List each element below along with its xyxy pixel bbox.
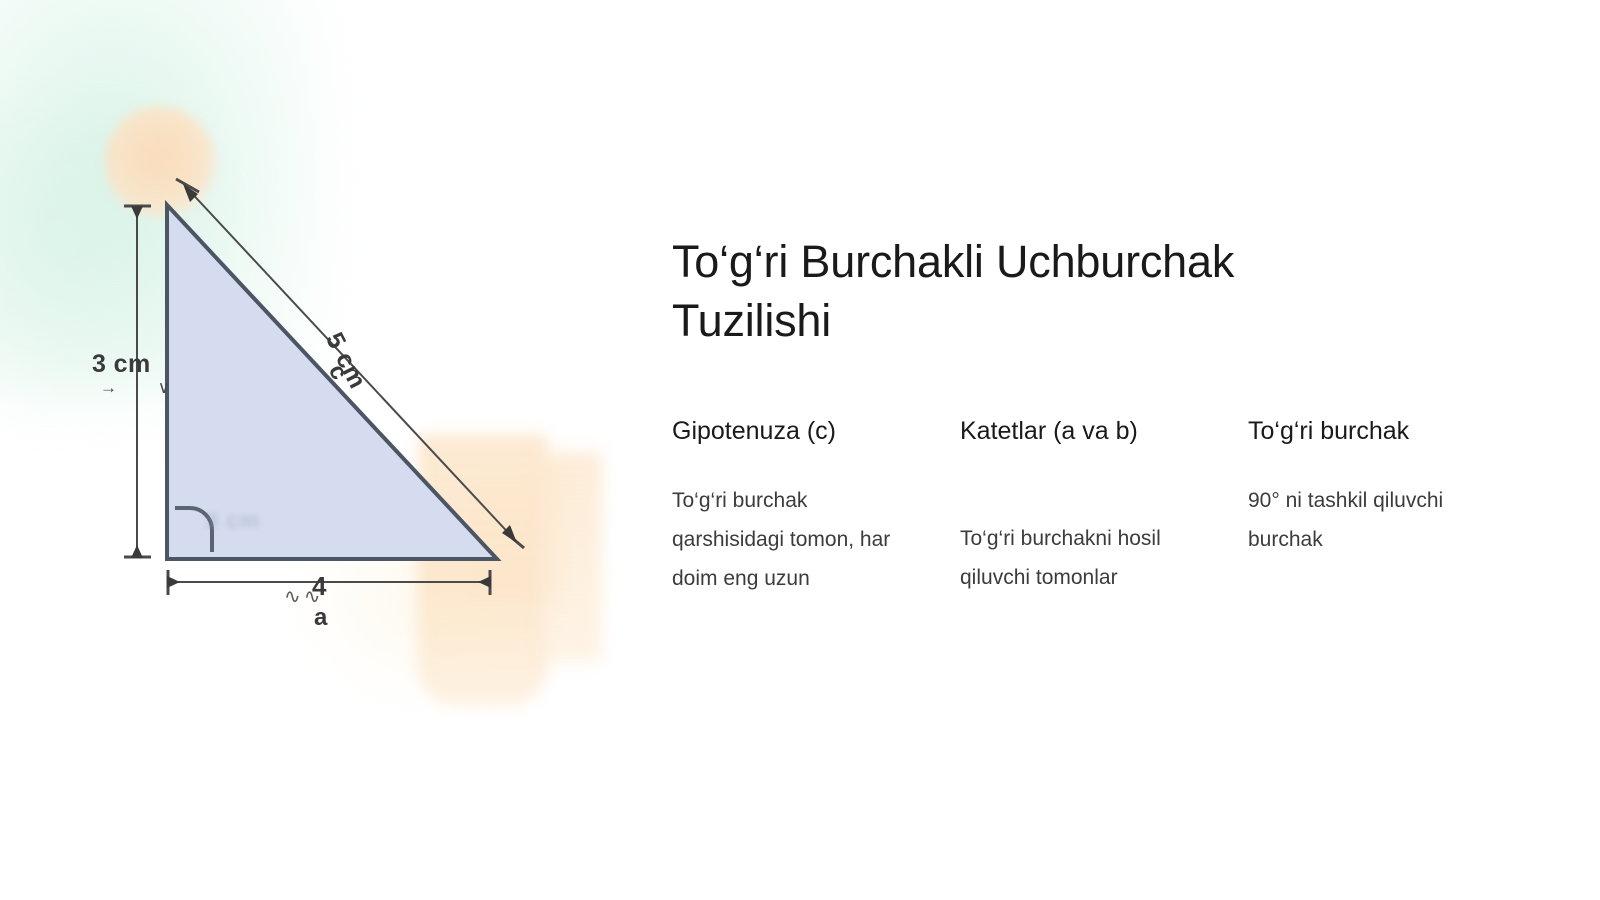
height-arrow-glyphs: → ∨ bbox=[100, 378, 188, 398]
right-angle-ghost-label: 3 cm bbox=[206, 508, 260, 534]
concept-card-title: Katetlar (a va b) bbox=[960, 416, 1248, 446]
vertical-dimension-arrow-bottom bbox=[131, 545, 143, 558]
slide-canvas: 3 cm 3 cm → ∨ 4 ∿∿ a 5 cm c To‘g‘ri Burc… bbox=[0, 0, 1600, 900]
horizontal-dimension-line bbox=[168, 570, 490, 595]
concept-card-togri-burchak: To‘g‘ri burchak 90° ni tashkil qiluvchi … bbox=[1248, 416, 1552, 560]
horizontal-dimension-arrow-left bbox=[167, 576, 180, 588]
base-side-letter-label: a bbox=[314, 604, 327, 632]
concept-card-katetlar: Katetlar (a va b) To‘g‘ri burchakni hosi… bbox=[960, 416, 1248, 598]
height-dimension-label: 3 cm bbox=[92, 350, 151, 379]
content-panel: To‘g‘ri Burchakli Uchburchak Tuzilishi G… bbox=[672, 232, 1552, 351]
concept-card-body: To‘g‘ri burchak qarshisidagi tomon, har … bbox=[672, 482, 912, 599]
page-title: To‘g‘ri Burchakli Uchburchak Tuzilishi bbox=[672, 232, 1372, 351]
concept-card-gipotenuza: Gipotenuza (c) To‘g‘ri burchak qarshisid… bbox=[672, 416, 960, 599]
horizontal-dimension-arrow-right bbox=[478, 576, 491, 588]
right-triangle-diagram: 3 cm 3 cm → ∨ 4 ∿∿ a 5 cm c bbox=[0, 0, 640, 900]
concept-card-title: To‘g‘ri burchak bbox=[1248, 416, 1552, 446]
concept-card-title: Gipotenuza (c) bbox=[672, 416, 960, 446]
vertical-dimension-arrow-top bbox=[131, 206, 143, 219]
concept-card-list: Gipotenuza (c) To‘g‘ri burchak qarshisid… bbox=[672, 416, 1552, 599]
concept-card-body: To‘g‘ri burchakni hosil qiluvchi tomonla… bbox=[960, 520, 1200, 598]
concept-card-body: 90° ni tashkil qiluvchi burchak bbox=[1248, 482, 1498, 560]
